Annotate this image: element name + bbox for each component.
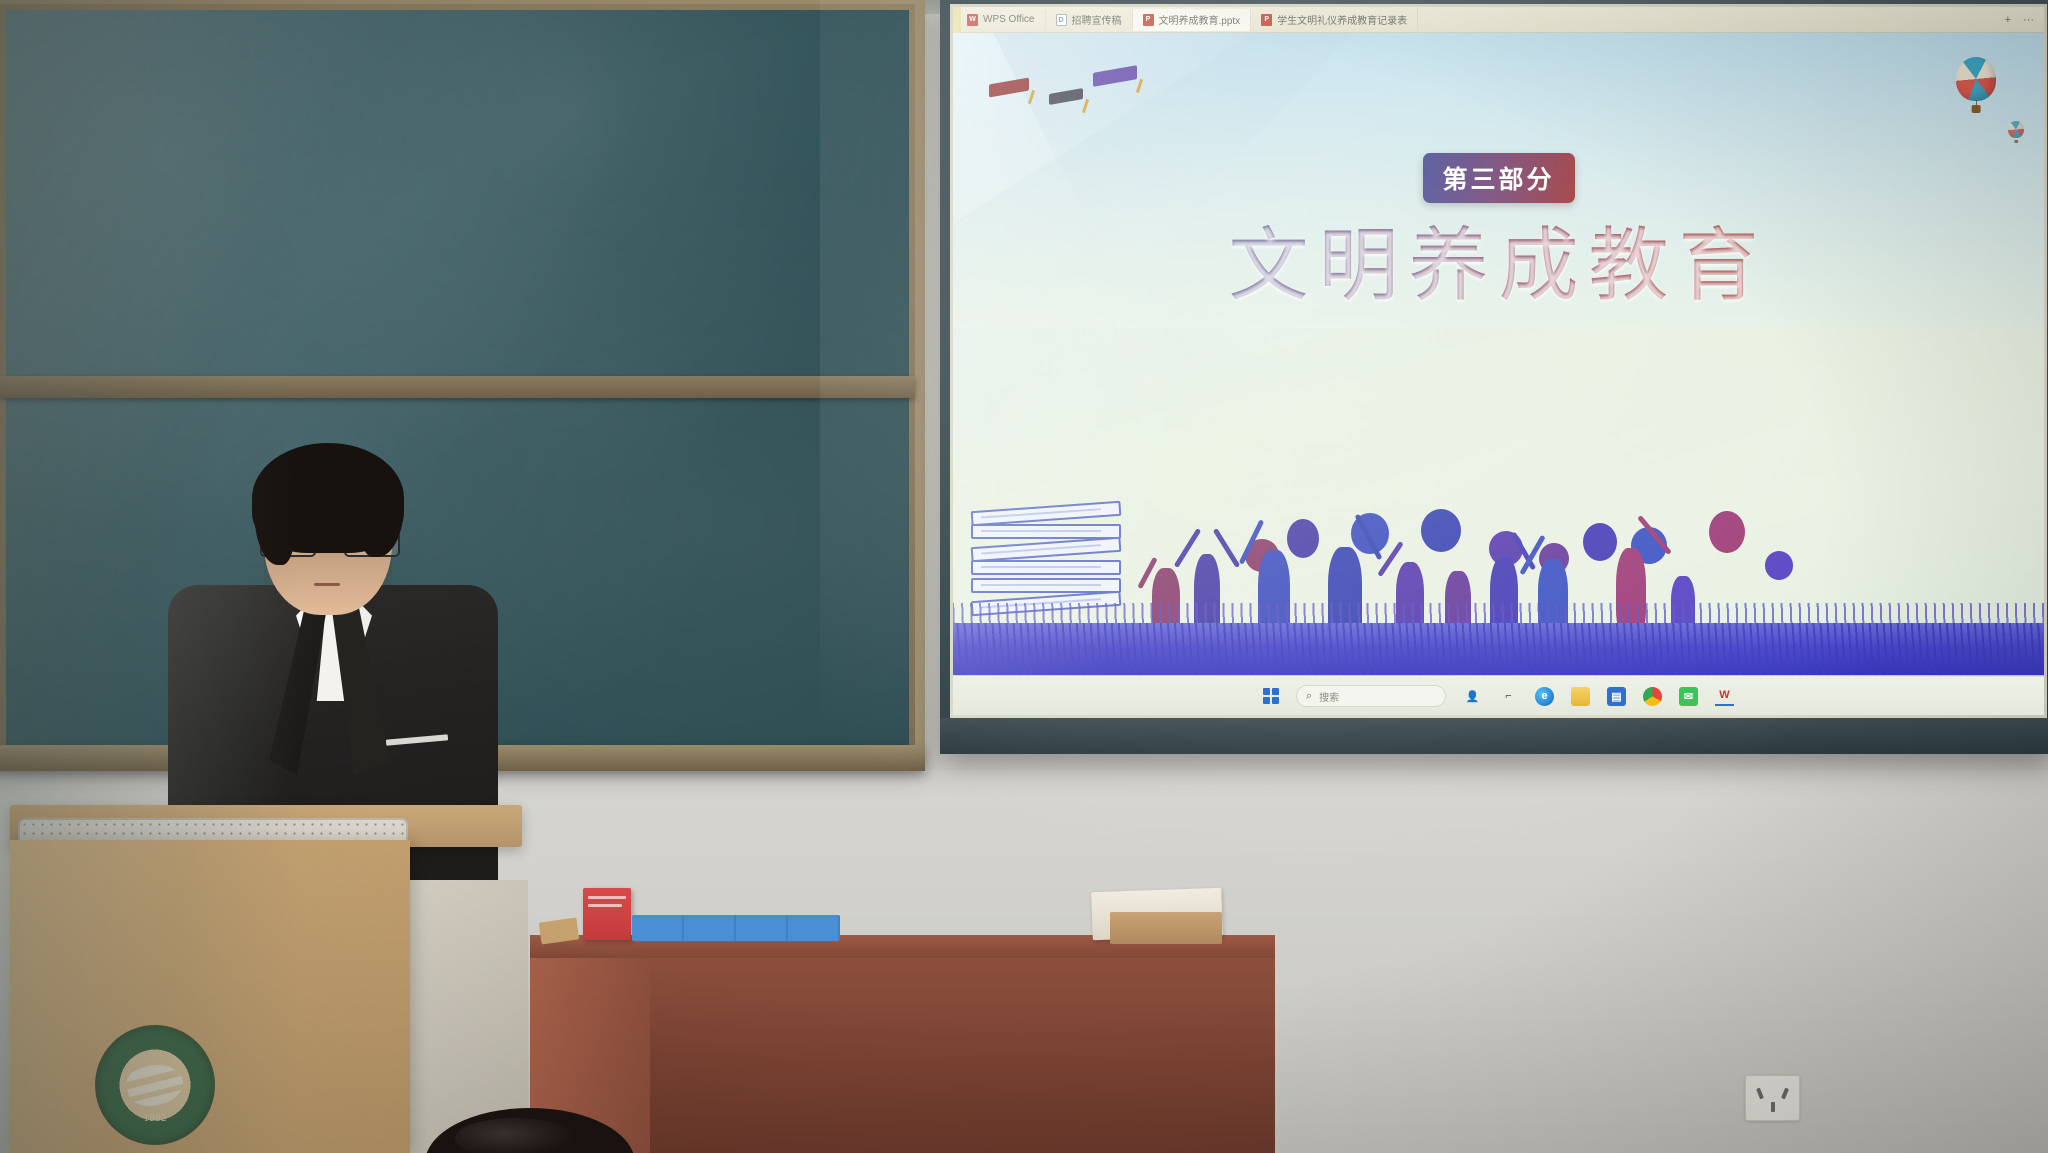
blue-folders[interactable]	[632, 915, 840, 941]
chrome-icon[interactable]	[1643, 687, 1662, 706]
wps-taskbar-icon[interactable]: W	[1715, 687, 1734, 706]
smart-display[interactable]: W WPS Office D 招聘宣传稿 P 文明养成教育.pptx P 学生文…	[940, 0, 2048, 754]
slide-canvas[interactable]: 第三部分 文明养成教育	[953, 33, 2044, 675]
graduation-cap-icon	[989, 81, 1029, 103]
display-screen[interactable]: W WPS Office D 招聘宣传稿 P 文明养成教育.pptx P 学生文…	[950, 4, 2047, 718]
tabbar-accent	[953, 7, 961, 33]
hot-air-balloon-icon-small	[2008, 121, 2024, 143]
tab-label: 文明养成教育.pptx	[1159, 12, 1241, 27]
wps-tabbar[interactable]: W WPS Office D 招聘宣传稿 P 文明养成教育.pptx P 学生文…	[953, 7, 2044, 33]
document-icon: D	[1056, 14, 1067, 26]
carton-box[interactable]	[1110, 912, 1222, 944]
windows-taskbar-bar[interactable]: ⌕ 搜索 👤 ⌐ e ▤ ✉ W	[953, 677, 2044, 715]
search-icon: ⌕	[1306, 690, 1312, 703]
people-icon[interactable]: 👤	[1463, 687, 1482, 706]
graduation-cap-icon	[1093, 69, 1137, 93]
classroom-photo: W WPS Office D 招聘宣传稿 P 文明养成教育.pptx P 学生文…	[0, 0, 2048, 1153]
blackboard-divider	[0, 376, 915, 398]
graduation-cap-icon	[1049, 91, 1083, 110]
presentation-icon: P	[1261, 14, 1272, 26]
grass-band	[953, 623, 2044, 675]
store-icon[interactable]: ▤	[1607, 687, 1626, 706]
tab-label: 招聘宣传稿	[1072, 12, 1122, 27]
tab-wps-office[interactable]: W WPS Office	[957, 9, 1046, 31]
file-explorer-icon[interactable]	[1571, 687, 1590, 706]
presentation-icon: P	[1143, 14, 1154, 26]
display-bottom-bezel	[940, 718, 2048, 754]
start-button[interactable]	[1263, 688, 1279, 704]
snip-tool-icon[interactable]: ⌐	[1499, 687, 1518, 706]
power-outlet	[1745, 1075, 1800, 1121]
wechat-icon[interactable]: ✉	[1679, 687, 1698, 706]
edge-icon[interactable]: e	[1535, 687, 1554, 706]
tab-label: 学生文明礼仪养成教育记录表	[1277, 12, 1407, 27]
books-icon	[971, 494, 1131, 619]
university-seal-logo: 1982	[95, 1025, 215, 1145]
mouth	[314, 583, 340, 586]
new-tab-button[interactable]: +	[2005, 14, 2011, 26]
tab-recruitment-doc[interactable]: D 招聘宣传稿	[1046, 9, 1133, 31]
tabbar-tools[interactable]: + ···	[2005, 14, 2044, 26]
red-booklet[interactable]	[583, 888, 631, 940]
tab-label: WPS Office	[983, 14, 1035, 25]
search-input[interactable]: ⌕ 搜索	[1296, 685, 1446, 707]
tab-etiquette-record[interactable]: P 学生文明礼仪养成教育记录表	[1251, 9, 1418, 31]
student-hair-highlight	[455, 1118, 575, 1153]
tab-civilization-pptx[interactable]: P 文明养成教育.pptx	[1133, 9, 1252, 31]
logo-year: 1982	[98, 1114, 212, 1124]
logo-swoosh	[123, 1059, 187, 1111]
search-placeholder: 搜索	[1319, 689, 1339, 704]
slide-section-badge: 第三部分	[1422, 153, 1574, 203]
more-options-icon[interactable]: ···	[2023, 14, 2034, 26]
hot-air-balloon-icon	[1956, 57, 1996, 113]
wps-icon: W	[967, 14, 978, 26]
slide-title: 文明养成教育	[1229, 201, 1769, 317]
